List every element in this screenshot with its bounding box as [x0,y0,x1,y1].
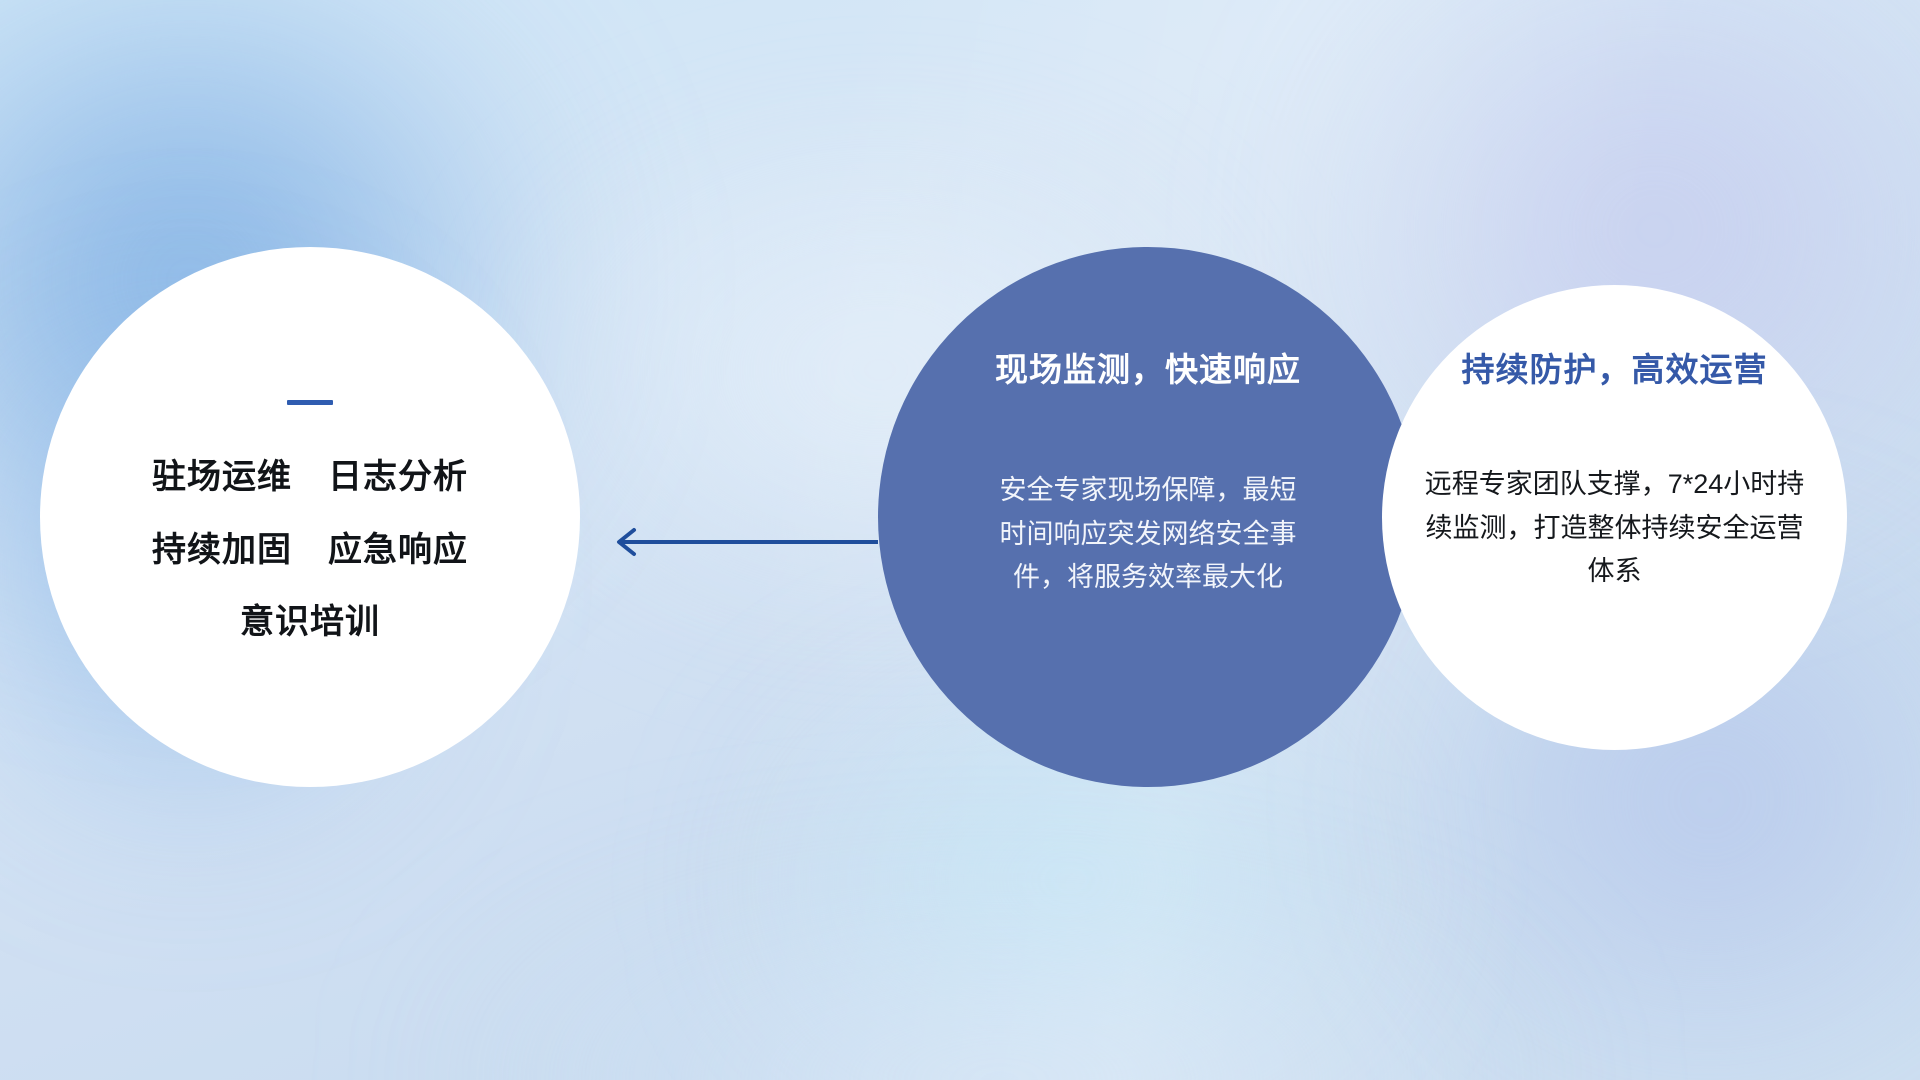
onsite-monitoring-title: 现场监测，快速响应 [995,343,1301,391]
onsite-monitoring-body: 安全专家现场保障，最短时间响应突发网络安全事件，将服务效率最大化 [990,469,1306,600]
capability-tag: 驻场运维 [152,459,292,496]
divider-dash [287,400,333,405]
continuous-protection-content: 持续防护，高效运营 远程专家团队支撑，7*24小时持续监测，打造整体持续安全运营… [1382,285,1847,750]
onsite-monitoring-content: 现场监测，快速响应 安全专家现场保障，最短时间响应突发网络安全事件，将服务效率最… [878,247,1418,787]
arrow-icon [600,525,878,559]
capability-tag: 意识培训 [240,604,380,641]
capabilities-content: 驻场运维 日志分析 持续加固 应急响应 意识培训 [40,247,580,787]
capability-tag: 日志分析 [328,459,468,496]
capability-row: 驻场运维 日志分析 [152,459,468,496]
onsite-monitoring-circle[interactable]: 现场监测，快速响应 安全专家现场保障，最短时间响应突发网络安全事件，将服务效率最… [878,247,1418,787]
diagram-stage: 现场监测，快速响应 安全专家现场保障，最短时间响应突发网络安全事件，将服务效率最… [0,0,1920,1080]
capability-row: 持续加固 应急响应 [152,532,468,569]
capabilities-circle[interactable]: 驻场运维 日志分析 持续加固 应急响应 意识培训 [40,247,580,787]
left-pointing-arrow [600,525,878,559]
capability-row: 意识培训 [240,604,380,641]
capability-tag: 持续加固 [152,532,292,569]
continuous-protection-body: 远程专家团队支撑，7*24小时持续监测，打造整体持续安全运营体系 [1415,463,1815,594]
capability-tag: 应急响应 [328,532,468,569]
continuous-protection-title: 持续防护，高效运营 [1462,343,1768,391]
continuous-protection-circle[interactable]: 持续防护，高效运营 远程专家团队支撑，7*24小时持续监测，打造整体持续安全运营… [1382,285,1847,750]
